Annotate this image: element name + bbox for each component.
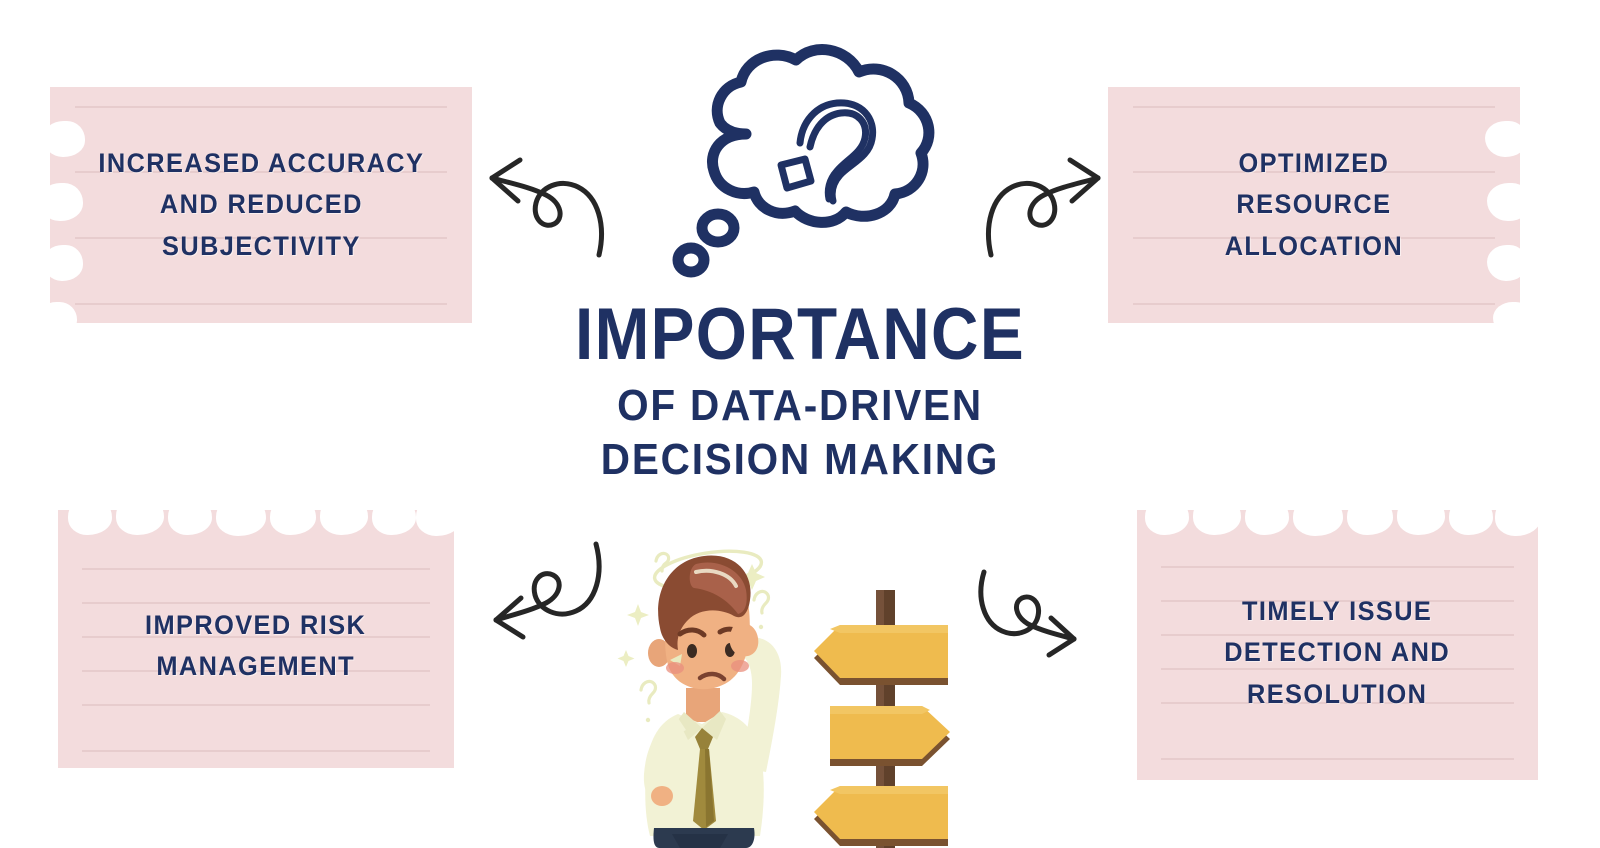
- arrow-to-top-left-icon: [478, 145, 618, 260]
- card-increased-accuracy[interactable]: INCREASED ACCURACY AND REDUCED SUBJECTIV…: [50, 87, 472, 323]
- title-subtitle-2: DECISION MAKING: [496, 433, 1103, 487]
- card-line: AND REDUCED: [98, 184, 424, 225]
- torn-top-edge: [58, 509, 454, 545]
- arrow-to-top-right-icon: [972, 145, 1112, 260]
- sign-left-1: [814, 625, 948, 685]
- card-line: RESOURCE: [1225, 184, 1403, 225]
- page-title: IMPORTANCE OF DATA-DRIVEN DECISION MAKIN…: [470, 300, 1130, 486]
- signpost-illustration: [800, 580, 970, 848]
- card-line: RESOLUTION: [1225, 674, 1451, 715]
- card-line: INCREASED ACCURACY: [98, 143, 424, 184]
- card-label-timely-issue-detection: TIMELY ISSUE DETECTION AND RESOLUTION: [1211, 591, 1463, 714]
- thought-bubble-icon: [650, 22, 950, 277]
- card-line: SUBJECTIVITY: [98, 226, 424, 267]
- card-line: TIMELY ISSUE: [1225, 591, 1451, 632]
- card-line: IMPROVED RISK: [145, 605, 366, 646]
- card-line: OPTIMIZED: [1225, 143, 1403, 184]
- punched-holes-right: [1475, 87, 1521, 323]
- sign-right-2: [830, 706, 950, 766]
- card-label-optimized-resource-allocation: OPTIMIZED RESOURCE ALLOCATION: [1212, 143, 1417, 266]
- card-label-increased-accuracy: INCREASED ACCURACY AND REDUCED SUBJECTIV…: [85, 143, 437, 266]
- card-line: MANAGEMENT: [145, 646, 366, 687]
- card-timely-issue-detection[interactable]: TIMELY ISSUE DETECTION AND RESOLUTION: [1137, 510, 1538, 780]
- torn-top-edge: [1137, 509, 1538, 545]
- infographic-canvas: INCREASED ACCURACY AND REDUCED SUBJECTIV…: [0, 0, 1600, 848]
- arrow-to-bottom-left-icon: [484, 540, 614, 652]
- card-label-improved-risk-management: IMPROVED RISK MANAGEMENT: [132, 605, 380, 687]
- card-improved-risk-management[interactable]: IMPROVED RISK MANAGEMENT: [58, 510, 454, 768]
- card-line: ALLOCATION: [1225, 226, 1403, 267]
- card-optimized-resource-allocation[interactable]: OPTIMIZED RESOURCE ALLOCATION: [1108, 87, 1520, 323]
- arrow-to-bottom-right-icon: [968, 568, 1088, 668]
- card-line: DETECTION AND: [1225, 632, 1451, 673]
- title-subtitle-1: OF DATA-DRIVEN: [496, 379, 1103, 433]
- sign-left-3: [814, 786, 948, 846]
- title-main: IMPORTANCE: [503, 300, 1097, 370]
- confused-businessman-illustration: [600, 528, 810, 848]
- hand: [730, 623, 759, 657]
